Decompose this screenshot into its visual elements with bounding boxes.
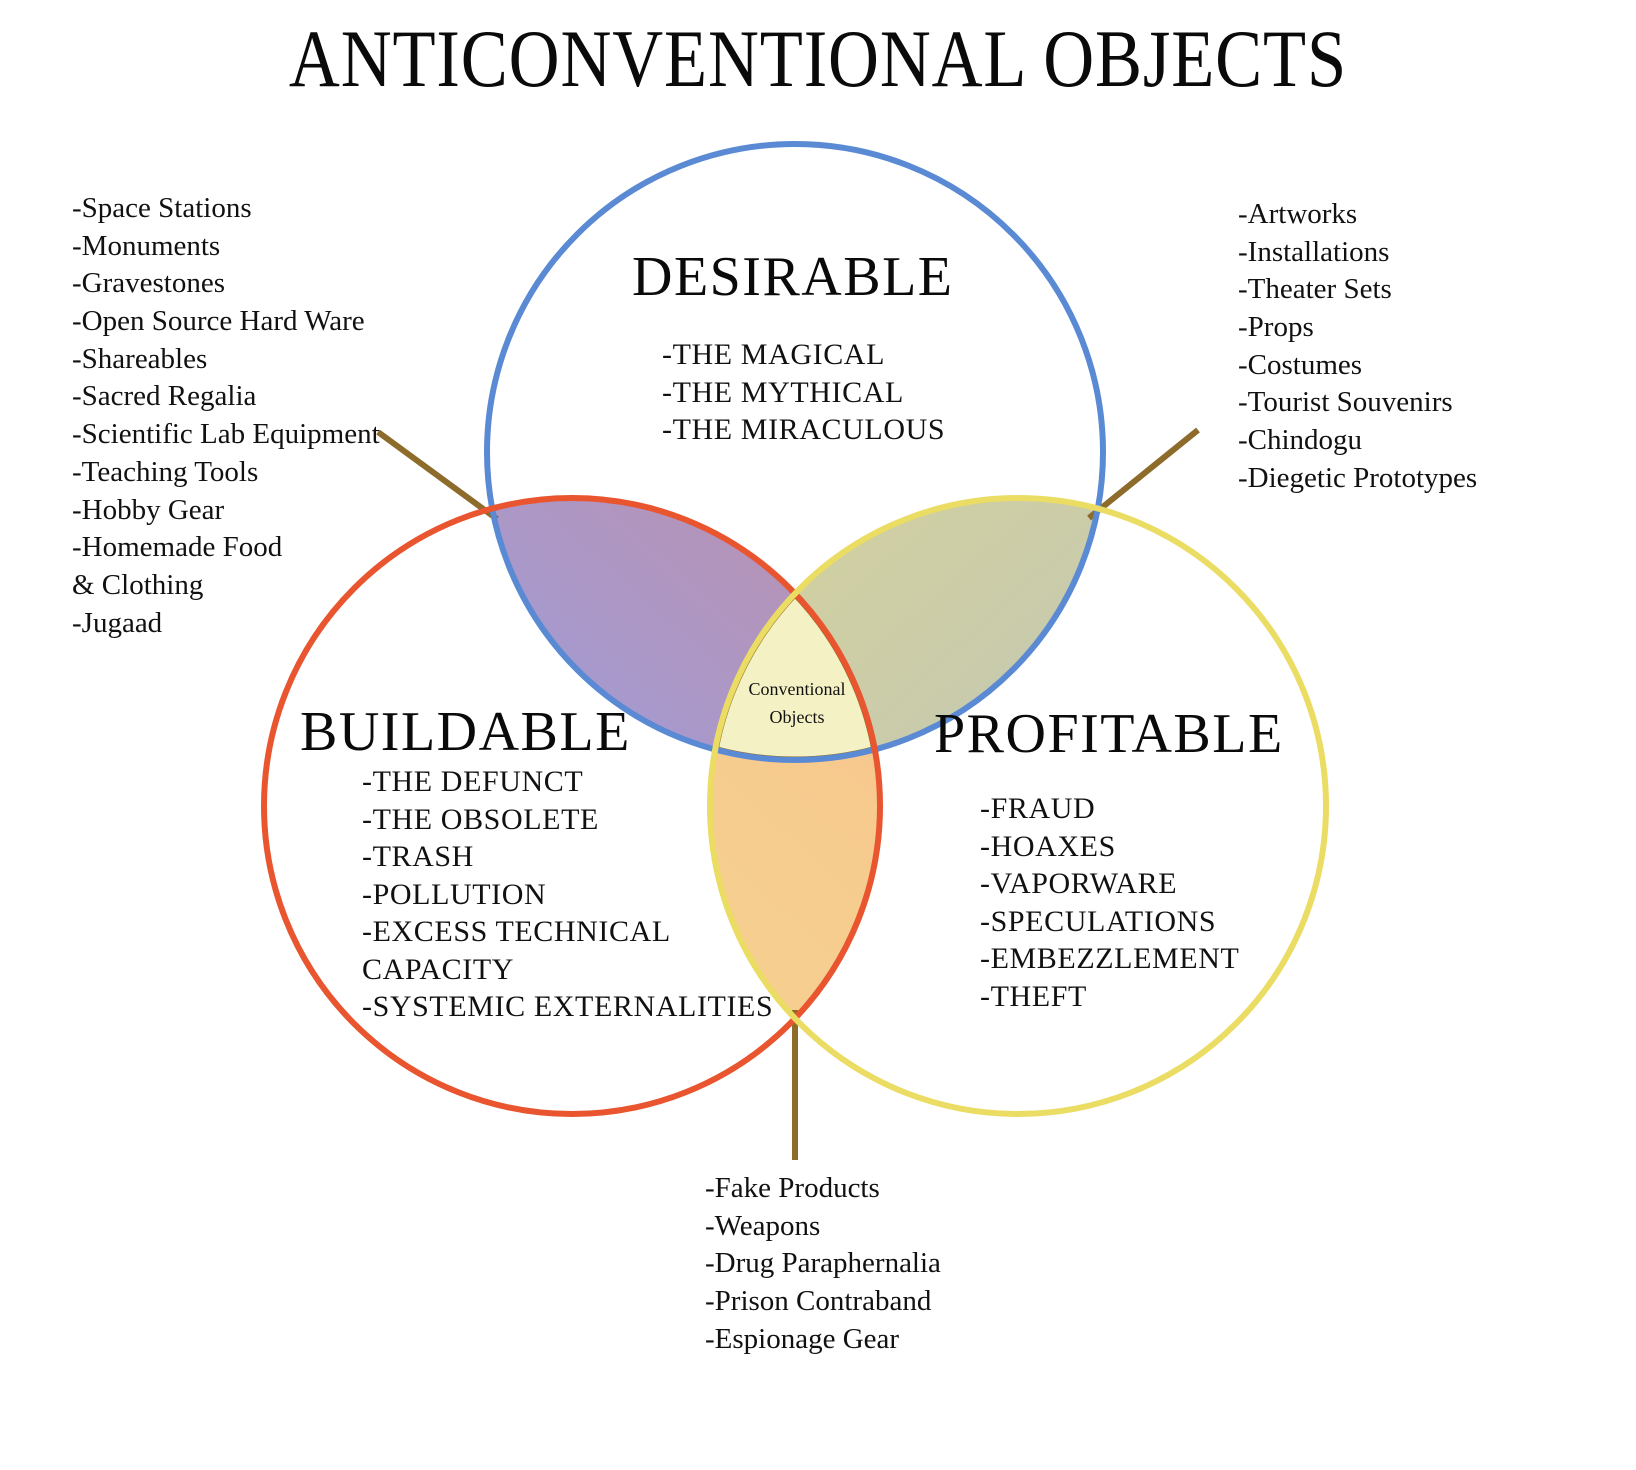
list-item: -Monuments [72, 228, 380, 266]
circle-items-profitable: -FRAUD -HOAXES -VAPORWARE -SPECULATIONS … [980, 790, 1239, 1015]
leader-line-left [378, 432, 497, 519]
list-item: -THE DEFUNCT [362, 763, 773, 801]
circle-title-desirable: DESIRABLE [632, 245, 954, 309]
list-item: -Tourist Souvenirs [1238, 384, 1477, 422]
list-item: -Gravestones [72, 265, 380, 303]
list-item: -Costumes [1238, 347, 1477, 385]
list-item: -Sacred Regalia [72, 378, 380, 416]
list-item: -EMBEZZLEMENT [980, 940, 1239, 978]
list-item: -HOAXES [980, 828, 1239, 866]
list-item: -Installations [1238, 234, 1477, 272]
list-item: -Fake Products [705, 1170, 941, 1208]
list-item: -Weapons [705, 1208, 941, 1246]
list-item: -TRASH [362, 838, 773, 876]
list-item: -Hobby Gear [72, 492, 380, 530]
list-item: -Artworks [1238, 196, 1477, 234]
list-item: -Homemade Food [72, 529, 380, 567]
list-item: -SPECULATIONS [980, 903, 1239, 941]
center-label-line1: Conventional [707, 676, 887, 704]
circle-items-buildable: -THE DEFUNCT -THE OBSOLETE -TRASH -POLLU… [362, 763, 773, 1026]
list-item: -FRAUD [980, 790, 1239, 828]
list-item: -THE MIRACULOUS [662, 411, 945, 449]
venn-diagram-canvas: ANTICONVENTIONAL OBJECTS DESIRABLE BUILD… [0, 0, 1636, 1470]
list-item: -Diegetic Prototypes [1238, 460, 1477, 498]
list-item: -SYSTEMIC EXTERNALITIES [362, 988, 773, 1026]
circle-title-profitable: PROFITABLE [934, 702, 1284, 766]
list-item: -Drug Paraphernalia [705, 1245, 941, 1283]
circle-items-desirable: -THE MAGICAL -THE MYTHICAL -THE MIRACULO… [662, 336, 945, 449]
annotation-list-left: -Space Stations -Monuments -Gravestones … [72, 190, 380, 642]
circle-title-buildable: BUILDABLE [300, 700, 631, 764]
list-item: -Open Source Hard Ware [72, 303, 380, 341]
list-item: -Prison Contraband [705, 1283, 941, 1321]
center-label-line2: Objects [707, 704, 887, 732]
list-item: -VAPORWARE [980, 865, 1239, 903]
list-item: -POLLUTION [362, 876, 773, 914]
center-intersection-label: Conventional Objects [707, 676, 887, 732]
list-item: -Espionage Gear [705, 1321, 941, 1359]
list-item: -THE MAGICAL [662, 336, 945, 374]
list-item: -Scientific Lab Equipment [72, 416, 380, 454]
list-item: CAPACITY [362, 951, 773, 989]
list-item: -Jugaad [72, 605, 380, 643]
list-item: -EXCESS TECHNICAL [362, 913, 773, 951]
list-item: -THE OBSOLETE [362, 801, 773, 839]
list-item: -Teaching Tools [72, 454, 380, 492]
list-item: & Clothing [72, 567, 380, 605]
annotation-list-right: -Artworks -Installations -Theater Sets -… [1238, 196, 1477, 498]
annotation-list-bottom: -Fake Products -Weapons -Drug Parapherna… [705, 1170, 941, 1358]
list-item: -Chindogu [1238, 422, 1477, 460]
list-item: -Shareables [72, 341, 380, 379]
list-item: -Theater Sets [1238, 271, 1477, 309]
list-item: -THE MYTHICAL [662, 374, 945, 412]
page-title: ANTICONVENTIONAL OBJECTS [115, 12, 1522, 106]
list-item: -THEFT [980, 978, 1239, 1016]
list-item: -Props [1238, 309, 1477, 347]
list-item: -Space Stations [72, 190, 380, 228]
